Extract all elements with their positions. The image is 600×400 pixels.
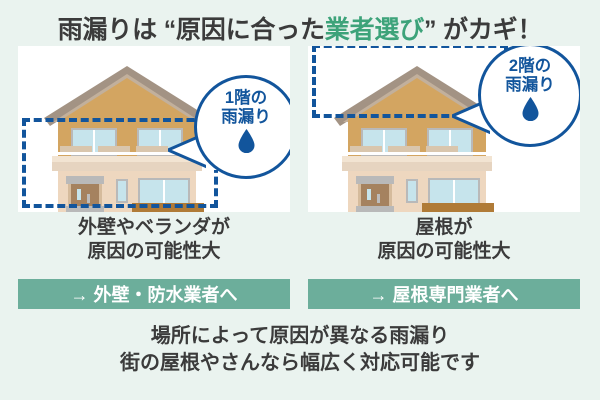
- title-suffix: ” がカギ！: [424, 16, 542, 44]
- water-drop-icon: [522, 97, 539, 121]
- illustration-card-first-floor: 1階の 雨漏り: [18, 46, 290, 212]
- illustration-card-second-floor: 2階の 雨漏り: [308, 46, 580, 212]
- bubble-line-2: 雨漏り: [505, 76, 555, 95]
- caption-line-2: 原因の可能性大: [18, 240, 290, 264]
- caption-line-2: 原因の可能性大: [308, 240, 580, 264]
- caption-second-floor: 屋根が 原因の可能性大: [308, 216, 580, 265]
- bubble-line-2: 雨漏り: [221, 108, 271, 127]
- caption-first-floor: 外壁やベランダが 原因の可能性大: [18, 216, 290, 265]
- caption-line-1: 屋根が: [308, 216, 580, 240]
- caption-line-1: 外壁やベランダが: [18, 216, 290, 240]
- title-prefix: 雨漏りは “原因に合った: [58, 16, 325, 44]
- action-bar-roof-specialist[interactable]: → 屋根専門業者へ: [308, 279, 580, 309]
- title-accent: 業者選び: [325, 16, 424, 44]
- water-drop-icon: [238, 129, 255, 153]
- action-bar-label: → 外壁・防水業者へ: [70, 281, 237, 307]
- bubble-line-1: 2階の: [509, 57, 551, 76]
- speech-bubble-first-floor: 1階の 雨漏り: [194, 75, 290, 179]
- action-bar-exterior-waterproof[interactable]: → 外壁・防水業者へ: [18, 279, 290, 309]
- speech-bubble-second-floor: 2階の 雨漏り: [478, 46, 580, 147]
- bubble-line-1: 1階の: [225, 89, 267, 108]
- footer-line-2: 街の屋根やさんなら幅広く対応可能です: [0, 350, 600, 377]
- infographic-root: 雨漏りは “原因に合った業者選び” がカギ！: [0, 0, 600, 400]
- footer-message: 場所によって原因が異なる雨漏り 街の屋根やさんなら幅広く対応可能です: [0, 323, 600, 377]
- footer-line-1: 場所によって原因が異なる雨漏り: [0, 323, 600, 350]
- page-title: 雨漏りは “原因に合った業者選び” がカギ！: [0, 10, 600, 46]
- action-bar-label: → 屋根専門業者へ: [369, 281, 518, 307]
